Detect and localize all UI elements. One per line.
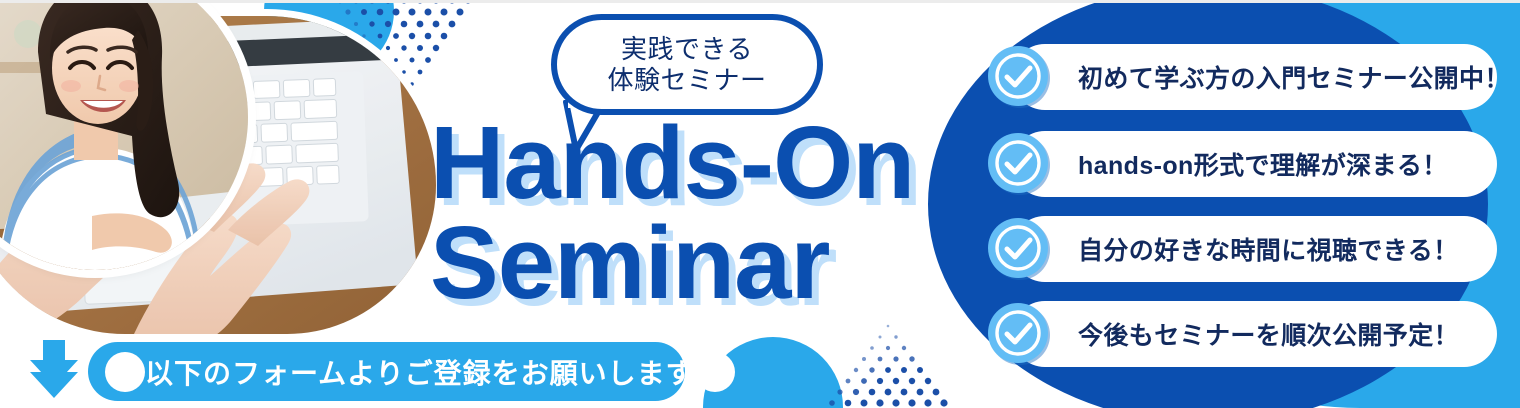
- checklist-item-label: hands-on形式で理解が深まる！: [1078, 146, 1448, 182]
- checklist-item-pill[interactable]: hands-on形式で理解が深まる！: [1012, 131, 1497, 197]
- seminar-banner: 実践できる 体験セミナー Hands-On Seminar 以下のフォームよりご…: [0, 0, 1520, 408]
- checklist-item-pill[interactable]: 自分の好きな時間に視聴できる！: [1012, 216, 1497, 282]
- checklist-item[interactable]: 自分の好きな時間に視聴できる！: [985, 215, 1497, 283]
- page-title: Hands-On Seminar: [430, 113, 914, 313]
- checklist-item[interactable]: 初めて学ぶ方の入門セミナー公開中！: [985, 43, 1497, 111]
- cta-right-dot-icon: [695, 352, 735, 392]
- headline-line-2: Seminar: [430, 213, 914, 313]
- check-circle-icon: [985, 215, 1052, 282]
- cta-left-dot-icon: [105, 352, 145, 392]
- speech-bubble-line-2: 体験セミナー: [607, 65, 766, 95]
- speech-bubble-line-1: 実践できる: [621, 34, 753, 64]
- cta-label: 以下のフォームよりご登録をお願いします: [145, 352, 695, 392]
- checklist-item-pill[interactable]: 今後もセミナーを順次公開予定！: [1012, 301, 1497, 367]
- check-circle-icon: [985, 43, 1052, 110]
- check-circle-icon: [985, 300, 1052, 367]
- checklist-item-pill[interactable]: 初めて学ぶ方の入門セミナー公開中！: [1012, 44, 1497, 110]
- checklist-item-label: 初めて学ぶ方の入門セミナー公開中！: [1078, 59, 1510, 95]
- halftone-dot-triangle-bottom-icon: [810, 322, 970, 408]
- feature-checklist: 初めて学ぶ方の入門セミナー公開中！ hands-on形式で理解が深まる！: [985, 43, 1497, 373]
- checklist-item-label: 自分の好きな時間に視聴できる！: [1078, 231, 1459, 267]
- checklist-item-label: 今後もセミナーを順次公開予定！: [1078, 316, 1459, 352]
- speech-bubble: 実践できる 体験セミナー: [551, 14, 823, 115]
- checklist-item[interactable]: 今後もセミナーを順次公開予定！: [985, 300, 1497, 368]
- check-circle-icon: [985, 130, 1052, 197]
- headline-line-1: Hands-On: [430, 113, 914, 213]
- top-divider: [0, 0, 1520, 3]
- registration-cta-bar[interactable]: 以下のフォームよりご登録をお願いします: [88, 342, 685, 401]
- double-chevron-down-icon: [26, 338, 82, 402]
- checklist-item[interactable]: hands-on形式で理解が深まる！: [985, 130, 1497, 198]
